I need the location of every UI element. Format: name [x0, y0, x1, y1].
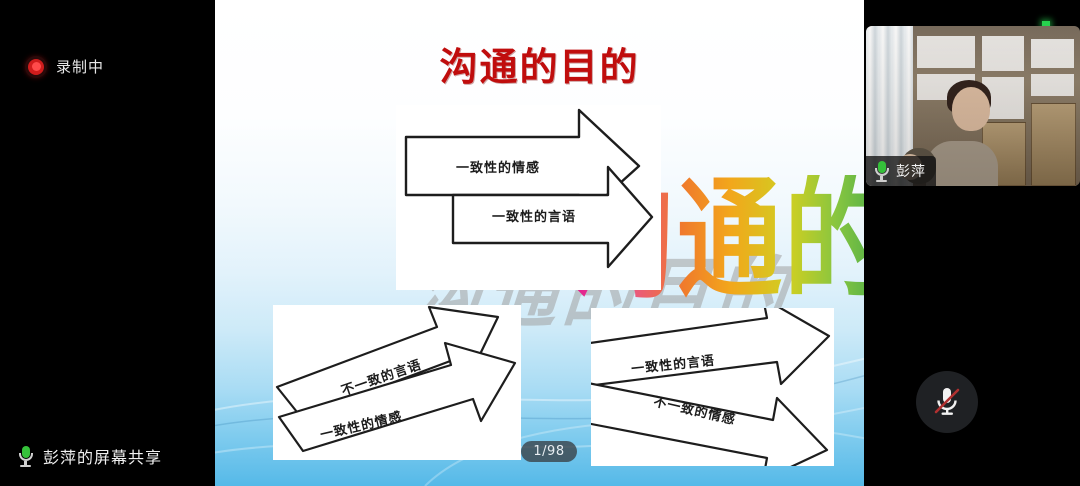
double-arrow-diagram	[396, 105, 661, 290]
inconsistent-emotion-panel: 一致性的言语 不一致的情感	[591, 308, 834, 466]
screen-share-status: 彭萍的屏幕共享	[18, 444, 162, 468]
crossed-arrow-diagram	[273, 305, 521, 460]
microphone-icon	[874, 161, 889, 182]
crossed-arrow-diagram	[591, 308, 834, 466]
microphone-icon	[18, 446, 33, 467]
inconsistent-speech-panel: 不一致的言语 一致性的情感	[273, 305, 521, 460]
arrow-label: 一致性的言语	[492, 206, 576, 225]
mute-button[interactable]	[916, 371, 978, 433]
consistent-communication-panel: 一致性的情感 一致性的言语	[396, 105, 661, 290]
participant-name: 彭萍	[896, 161, 926, 181]
participant-name-badge: 彭萍	[866, 156, 936, 186]
arrow-label: 一致性的情感	[456, 157, 540, 176]
meeting-window: 录制中 彭萍的屏幕共享 沟通的目的 沟通的目的 沟通的目的 一致性的情感 一致性…	[0, 0, 1080, 486]
page-indicator: 1/98	[521, 441, 577, 462]
slide-title: 沟通的目的	[215, 36, 864, 91]
record-dot-icon	[28, 59, 44, 75]
recording-label: 录制中	[56, 56, 104, 77]
participant-video-tile[interactable]: 彭萍	[866, 26, 1080, 186]
shared-slide[interactable]: 沟通的目的 沟通的目的 沟通的目的 一致性的情感 一致性的言语 不一致的言语	[215, 0, 864, 486]
microphone-muted-icon	[932, 385, 962, 419]
participant-panel: 彭萍	[864, 0, 1080, 486]
recording-indicator: 录制中	[28, 56, 104, 77]
screen-share-label: 彭萍的屏幕共享	[43, 444, 162, 468]
